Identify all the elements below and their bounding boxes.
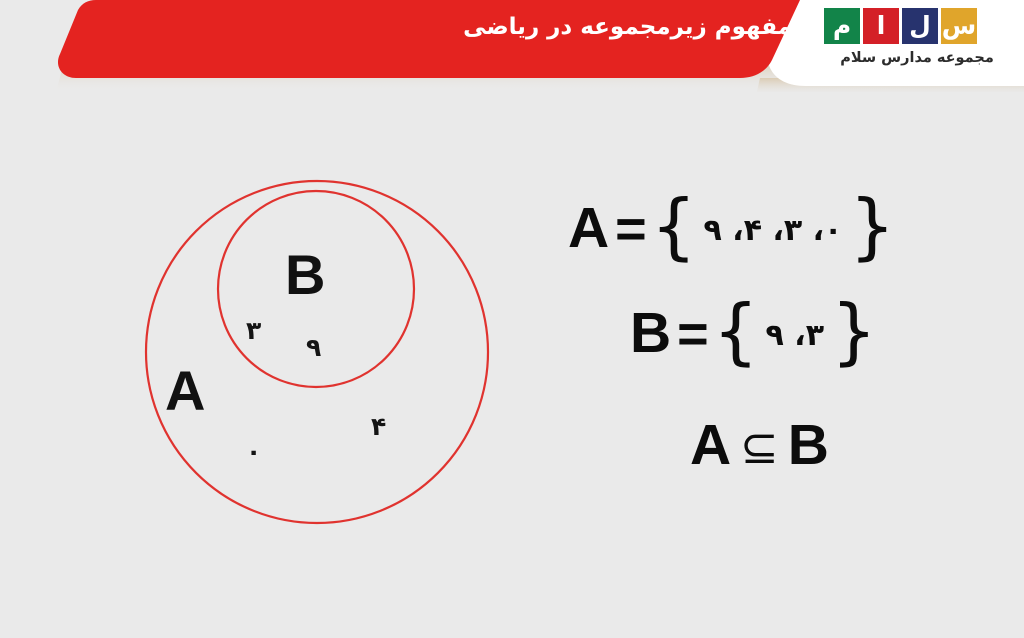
equation-b-letter: B — [630, 305, 671, 362]
equation-b-items: ۳، ۹ — [759, 321, 831, 351]
equation-subset-relation: A ⊆ B — [690, 417, 829, 474]
venn-element-three: ۳ — [246, 318, 261, 343]
venn-label-b: B — [285, 247, 325, 303]
logo-tiles: س ل ا م — [824, 8, 1010, 44]
logo-tile-alef: ا — [863, 8, 899, 44]
header-bar: مفهوم زیرمجموعه در ریاضی س ل ا م مجموعه … — [0, 0, 1024, 90]
equations-panel: A = { ۰، ۳، ۴، ۹ } B = { ۳، ۹ } A ⊆ B — [540, 92, 1024, 638]
logo-subtitle: مجموعه مدارس سلام — [824, 50, 1010, 66]
venn-label-a: A — [165, 363, 205, 419]
logo-tile-meem: م — [824, 8, 860, 44]
venn-element-zero: ۰ — [246, 439, 261, 464]
equation-a-open-brace: { — [651, 198, 697, 254]
equation-b-equals: = — [677, 307, 709, 361]
logo[interactable]: س ل ا م مجموعه مدارس سلام — [824, 8, 1010, 66]
equation-b-close-brace: } — [831, 303, 877, 359]
equation-set-b: B = { ۳، ۹ } — [630, 305, 877, 362]
page-title: مفهوم زیرمجموعه در ریاضی — [463, 14, 792, 40]
venn-element-nine: ۹ — [306, 335, 321, 360]
slide-content: A B ۳ ۹ ۰ ۴ A = { ۰، ۳، ۴، ۹ } B = { ۳، … — [0, 92, 1024, 638]
subset-icon: ⊆ — [740, 424, 779, 470]
equation-b-open-brace: { — [713, 303, 759, 359]
venn-element-four: ۴ — [371, 414, 386, 439]
venn-diagram: A B ۳ ۹ ۰ ۴ — [0, 92, 560, 638]
equation-a-items: ۰، ۳، ۴، ۹ — [697, 216, 850, 246]
equation-set-a: A = { ۰، ۳، ۴، ۹ } — [568, 200, 895, 257]
equation-a-letter: A — [568, 200, 609, 257]
equation-a-equals: = — [615, 202, 647, 256]
relation-left-letter: A — [690, 417, 731, 474]
logo-tile-seen: س — [941, 8, 977, 44]
logo-tile-lam: ل — [902, 8, 938, 44]
relation-right-letter: B — [788, 417, 829, 474]
venn-circles — [0, 92, 560, 638]
slide-root: مفهوم زیرمجموعه در ریاضی س ل ا م مجموعه … — [0, 0, 1024, 638]
equation-a-close-brace: } — [849, 198, 895, 254]
